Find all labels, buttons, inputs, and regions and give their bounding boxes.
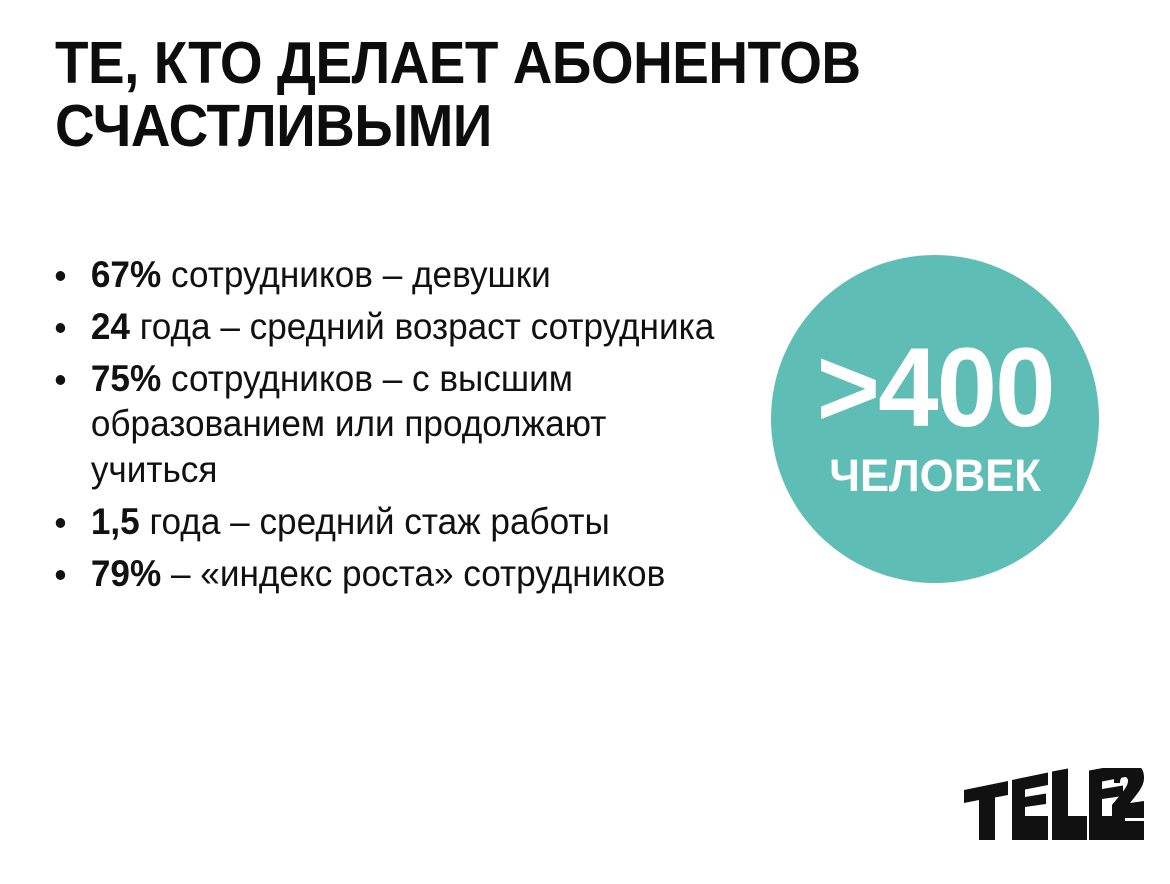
slide-canvas: ТЕ, КТО ДЕЛАЕТ АБОНЕНТОВ СЧАСТЛИВЫМИ 67%… [0,0,1170,884]
page-title: ТЕ, КТО ДЕЛАЕТ АБОНЕНТОВ СЧАСТЛИВЫМИ [55,32,985,157]
bullet-dot-icon [56,271,65,281]
headcount-stat-circle: >400 ЧЕЛОВЕК [771,255,1099,583]
bullet-lead-value: 67% [91,254,161,295]
bullet-text: года – средний возраст сотрудника [130,306,714,347]
headcount-caption: ЧЕЛОВЕК [829,453,1041,498]
list-item: 24 года – средний возраст сотрудника [50,304,715,349]
bullet-dot-icon [56,570,65,580]
bullet-text: сотрудников – девушки [161,254,551,295]
bullet-lead-value: 79% [91,553,161,594]
bullet-dot-icon [56,375,65,385]
bullet-text: – «индекс роста» сотрудников [161,553,665,594]
headcount-value: >400 [817,336,1054,439]
tele2-logo [962,768,1144,846]
bullet-lead-value: 75% [91,358,161,399]
bullet-dot-icon [56,323,65,333]
bullet-lead-value: 1,5 [91,501,140,542]
list-item: 67% сотрудников – девушки [50,252,715,297]
bullet-text: сотрудников – с высшим образованием или … [91,358,606,489]
bullet-lead-value: 24 [91,306,130,347]
list-item: 1,5 года – средний стаж работы [50,499,715,544]
list-item: 79% – «индекс роста» сотрудников [50,551,715,596]
list-item: 75% сотрудников – с высшим образованием … [50,356,715,491]
bullet-text: года – средний стаж работы [140,501,610,542]
bullet-dot-icon [56,518,65,528]
statistics-list: 67% сотрудников – девушки 24 года – сред… [50,252,750,603]
